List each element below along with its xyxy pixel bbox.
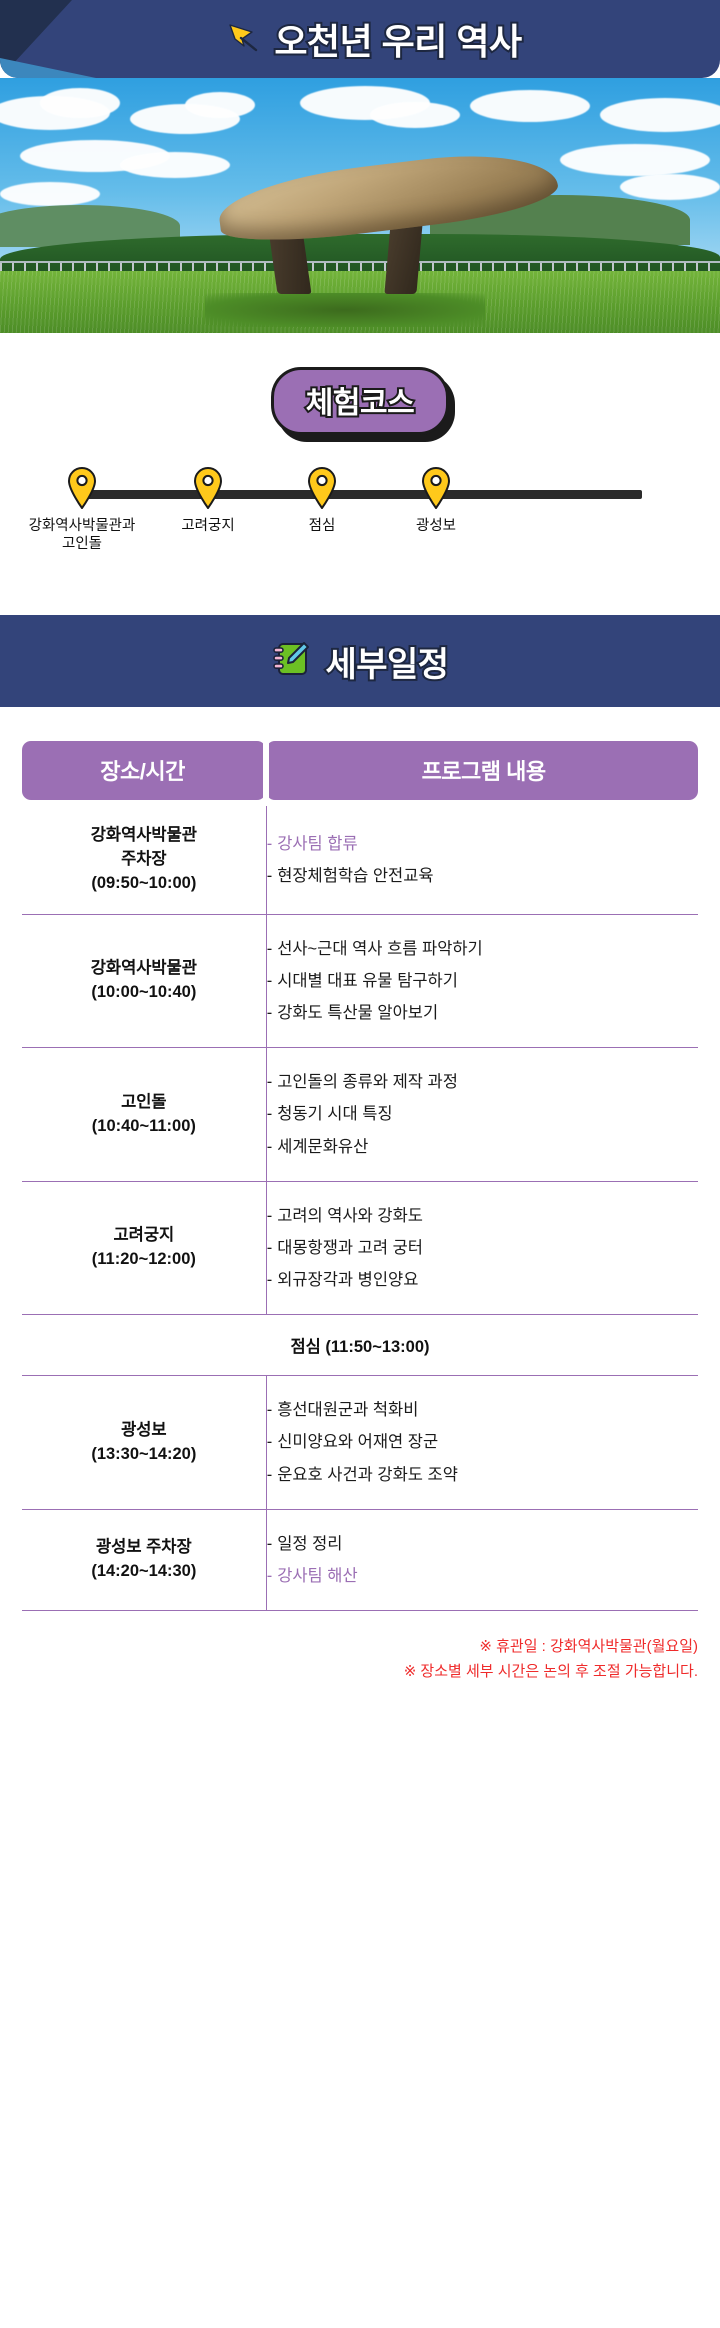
dash: - <box>267 867 273 885</box>
row-program: -일정 정리 -강사팀 해산 <box>266 1509 698 1610</box>
row-program: -흥선대원군과 척화비 -신미양요와 어재연 장군 -운요호 사건과 강화도 조… <box>266 1376 698 1510</box>
cloud <box>620 174 720 200</box>
program-item-text: 흥선대원군과 척화비 <box>277 1401 418 1419</box>
program-item: -강사팀 합류 <box>267 828 698 860</box>
course-timeline: 강화역사박물관과 고인돌 고려궁지 점심 <box>20 467 700 587</box>
row-place: 고려궁지 (11:20~12:00) <box>22 1181 266 1315</box>
dash: - <box>267 1207 273 1225</box>
program-item: -외규장각과 병인양요 <box>267 1264 698 1296</box>
row-program: -고려의 역사와 강화도 -대몽항쟁과 고려 궁터 -외규장각과 병인양요 <box>266 1181 698 1315</box>
course-section: 체험코스 강화역사박물관과 고인돌 <box>0 333 720 601</box>
row-place: 광성보 주차장 (14:20~14:30) <box>22 1509 266 1610</box>
dash: - <box>267 1433 273 1451</box>
program-item-text: 강사팀 합류 <box>277 835 357 853</box>
dash: - <box>267 972 273 990</box>
program-item-text: 강화도 특산물 알아보기 <box>277 1004 438 1022</box>
schedule-section-title: 세부일정 <box>325 637 448 686</box>
program-item-text: 청동기 시대 특징 <box>277 1105 392 1123</box>
program-item: -흥선대원군과 척화비 <box>267 1394 698 1426</box>
dolmen-shadow <box>205 293 485 327</box>
dash: - <box>267 1138 273 1156</box>
program-item: -신미양요와 어재연 장군 <box>267 1426 698 1458</box>
program-item-text: 대몽항쟁과 고려 궁터 <box>277 1239 423 1257</box>
program-item: -현장체험학습 안전교육 <box>267 860 698 892</box>
dash: - <box>267 1567 273 1585</box>
program-item-text: 고인돌의 종류와 제작 과정 <box>277 1073 458 1091</box>
table-row-lunch: 점심 (11:50~13:00) <box>22 1315 698 1376</box>
header-content: 오천년 우리 역사 <box>226 13 521 65</box>
program-item-text: 현장체험학습 안전교육 <box>277 867 433 885</box>
program-item: -선사~근대 역사 흐름 파악하기 <box>267 933 698 965</box>
footnotes: ※ 휴관일 : 강화역사박물관(월요일) ※ 장소별 세부 시간은 논의 후 조… <box>0 1621 720 1711</box>
table-row: 광성보 주차장 (14:20~14:30) -일정 정리 -강사팀 해산 <box>22 1509 698 1610</box>
program-item-text: 외규장각과 병인양요 <box>277 1271 418 1289</box>
dash: - <box>267 1105 273 1123</box>
cloud <box>0 182 100 206</box>
memo-pencil-icon <box>271 639 311 684</box>
lunch-row-label: 점심 (11:50~13:00) <box>22 1315 698 1376</box>
program-item-text: 시대별 대표 유물 탐구하기 <box>277 972 458 990</box>
map-pin-icon <box>351 467 521 514</box>
dash: - <box>267 1073 273 1091</box>
program-item-text: 고려의 역사와 강화도 <box>277 1207 423 1225</box>
cloud <box>560 144 710 176</box>
column-header-place: 장소/시간 <box>22 741 266 800</box>
row-place: 강화역사박물관 (10:00~10:40) <box>22 914 266 1048</box>
program-item-text: 강사팀 해산 <box>277 1567 357 1585</box>
schedule-table: 장소/시간 프로그램 내용 강화역사박물관 주차장 (09:50~10:00) … <box>22 741 698 1611</box>
column-header-program: 프로그램 내용 <box>266 741 698 800</box>
page-title: 오천년 우리 역사 <box>274 13 521 65</box>
cloud <box>470 90 590 122</box>
program-item-text: 신미양요와 어재연 장군 <box>277 1433 438 1451</box>
cloud <box>40 88 120 118</box>
cloud <box>370 102 460 128</box>
schedule-banner: 세부일정 <box>0 615 720 707</box>
timeline-stop-label: 광성보 <box>351 517 521 535</box>
program-item: -고인돌의 종류와 제작 과정 <box>267 1066 698 1098</box>
program-item-text: 선사~근대 역사 흐름 파악하기 <box>277 940 483 958</box>
program-item: -강사팀 해산 <box>267 1560 698 1592</box>
row-program: -선사~근대 역사 흐름 파악하기 -시대별 대표 유물 탐구하기 -강화도 특… <box>266 914 698 1048</box>
program-item: -세계문화유산 <box>267 1131 698 1163</box>
row-place: 광성보 (13:30~14:20) <box>22 1376 266 1510</box>
table-row: 강화역사박물관 주차장 (09:50~10:00) -강사팀 합류 -현장체험학… <box>22 806 698 914</box>
footnote-closed-day: ※ 휴관일 : 강화역사박물관(월요일) <box>22 1635 698 1660</box>
pushpin-icon <box>226 21 260 58</box>
dash: - <box>267 1466 273 1484</box>
dash: - <box>267 1239 273 1257</box>
row-program: -강사팀 합류 -현장체험학습 안전교육 <box>266 806 698 914</box>
program-item: -강화도 특산물 알아보기 <box>267 997 698 1029</box>
program-item: -운요호 사건과 강화도 조약 <box>267 1459 698 1491</box>
dash: - <box>267 1004 273 1022</box>
timeline-stop-4[interactable]: 광성보 <box>351 467 521 535</box>
dash: - <box>267 835 273 853</box>
program-item-text: 운요호 사건과 강화도 조약 <box>277 1466 458 1484</box>
course-badge-label: 체험코스 <box>306 387 414 420</box>
ganghwa-dolmen-photo <box>0 78 720 333</box>
table-row: 고려궁지 (11:20~12:00) -고려의 역사와 강화도 -대몽항쟁과 고… <box>22 1181 698 1315</box>
course-badge-wrap: 체험코스 <box>0 367 720 467</box>
program-item: -고려의 역사와 강화도 <box>267 1200 698 1232</box>
program-item-text: 일정 정리 <box>277 1535 342 1553</box>
dash: - <box>267 1535 273 1553</box>
cloud <box>185 92 255 118</box>
schedule-table-wrap: 장소/시간 프로그램 내용 강화역사박물관 주차장 (09:50~10:00) … <box>0 707 720 1621</box>
row-place: 강화역사박물관 주차장 (09:50~10:00) <box>22 806 266 914</box>
program-item: -일정 정리 <box>267 1528 698 1560</box>
program-item-text: 세계문화유산 <box>277 1138 368 1156</box>
program-item: -시대별 대표 유물 탐구하기 <box>267 965 698 997</box>
dash: - <box>267 1401 273 1419</box>
table-row: 광성보 (13:30~14:20) -흥선대원군과 척화비 -신미양요와 어재연… <box>22 1376 698 1510</box>
course-badge: 체험코스 <box>271 367 449 435</box>
table-row: 강화역사박물관 (10:00~10:40) -선사~근대 역사 흐름 파악하기 … <box>22 914 698 1048</box>
cloud <box>120 152 230 178</box>
poster: 오천년 우리 역사 체험코스 <box>0 0 720 1711</box>
program-item: -대몽항쟁과 고려 궁터 <box>267 1232 698 1264</box>
row-place: 고인돌 (10:40~11:00) <box>22 1048 266 1182</box>
cloud <box>600 98 720 132</box>
footnote-time-adjustable: ※ 장소별 세부 시간은 논의 후 조절 가능합니다. <box>22 1660 698 1685</box>
program-item: -청동기 시대 특징 <box>267 1098 698 1130</box>
header-banner: 오천년 우리 역사 <box>0 0 720 78</box>
dash: - <box>267 940 273 958</box>
table-header-row: 장소/시간 프로그램 내용 <box>22 741 698 800</box>
row-program: -고인돌의 종류와 제작 과정 -청동기 시대 특징 -세계문화유산 <box>266 1048 698 1182</box>
table-row: 고인돌 (10:40~11:00) -고인돌의 종류와 제작 과정 -청동기 시… <box>22 1048 698 1182</box>
dash: - <box>267 1271 273 1289</box>
